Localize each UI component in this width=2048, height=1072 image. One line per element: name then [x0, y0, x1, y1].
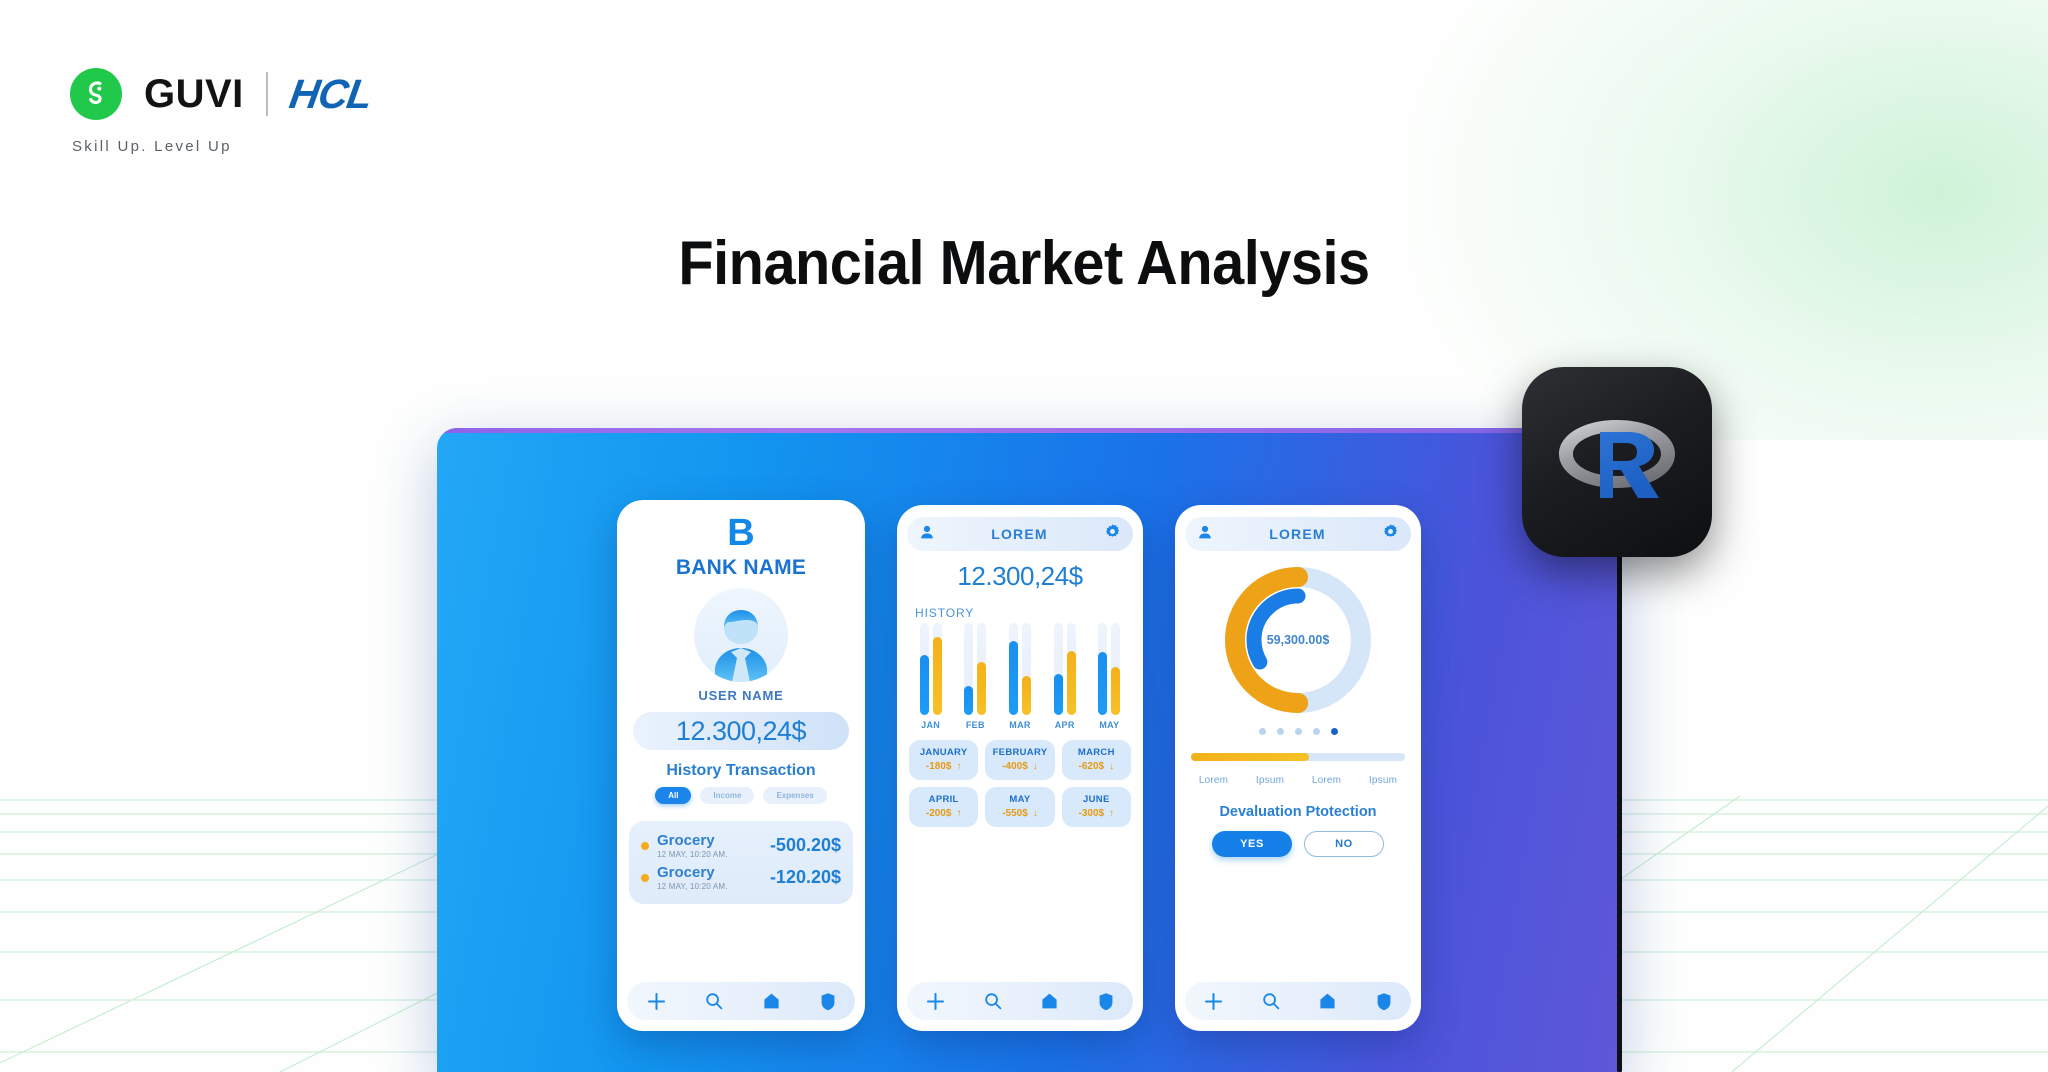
- progress-bar-fill: [1191, 753, 1309, 761]
- gear-icon[interactable]: [1104, 523, 1121, 545]
- transaction-date: 12 MAY, 10:20 AM.: [657, 850, 762, 859]
- legend-row: Lorem Ipsum Lorem Ipsum: [1185, 775, 1411, 786]
- r-language-logo-icon: [1522, 367, 1712, 557]
- plus-icon[interactable]: [926, 992, 945, 1011]
- home-icon[interactable]: [762, 992, 781, 1010]
- bar-group: APR: [1045, 623, 1084, 730]
- month-name: FEBRUARY: [987, 747, 1052, 758]
- no-button[interactable]: NO: [1304, 831, 1384, 857]
- filter-chip-income[interactable]: Income: [700, 787, 754, 804]
- pagination-dot-active[interactable]: [1331, 728, 1338, 735]
- month-card[interactable]: APRIL -200$ ↑: [909, 787, 978, 827]
- search-icon[interactable]: [705, 992, 723, 1010]
- progress-bar: [1191, 753, 1405, 761]
- bar-track: [1098, 623, 1107, 715]
- bar-track: [977, 623, 986, 715]
- bar-track: [1111, 623, 1120, 715]
- app-header: LOREM: [907, 517, 1133, 551]
- person-icon[interactable]: [919, 524, 935, 545]
- transaction-name: Grocery: [657, 865, 762, 881]
- transaction-name: Grocery: [657, 833, 762, 849]
- bar-track: [1022, 623, 1031, 715]
- bar-group: MAR: [1000, 623, 1039, 730]
- phone-mockup-donut-protection: LOREM 59,300.00$: [1175, 505, 1421, 1031]
- month-card[interactable]: FEBRUARY -400$ ↓: [985, 740, 1054, 780]
- bar-category-label: JAN: [921, 720, 940, 730]
- hcl-wordmark: HCL: [287, 74, 375, 115]
- plus-icon[interactable]: [1204, 992, 1223, 1011]
- app-header-title: LOREM: [991, 526, 1048, 542]
- bar-group: FEB: [956, 623, 995, 730]
- shield-icon[interactable]: [1376, 992, 1392, 1011]
- legend-item: Ipsum: [1369, 775, 1397, 786]
- filter-chip-all[interactable]: All: [655, 787, 691, 804]
- bar-yellow: [1111, 667, 1120, 715]
- month-name: APRIL: [911, 794, 976, 805]
- trend-arrow-icon: ↓: [1109, 762, 1114, 772]
- pagination-dot[interactable]: [1277, 728, 1284, 735]
- transaction-date: 12 MAY, 10:20 AM.: [657, 882, 762, 891]
- history-chart-label: HISTORY: [915, 606, 1143, 620]
- section-heading: Devaluation Ptotection: [1175, 804, 1421, 820]
- bank-name-label: BANK NAME: [617, 556, 865, 580]
- pagination-dot[interactable]: [1259, 728, 1266, 735]
- status-dot-icon: [641, 842, 649, 850]
- plus-icon[interactable]: [647, 992, 666, 1011]
- trend-arrow-icon: ↑: [956, 762, 961, 772]
- list-item[interactable]: Grocery 12 MAY, 10:20 AM. -500.20$: [641, 830, 841, 862]
- bank-logo-letter: B: [617, 514, 865, 552]
- month-value: -200$: [926, 808, 952, 819]
- pagination-dot[interactable]: [1295, 728, 1302, 735]
- logo-divider: [266, 72, 268, 116]
- bar-category-label: MAY: [1099, 720, 1119, 730]
- bar-track: [933, 623, 942, 715]
- month-value: -620$: [1079, 761, 1105, 772]
- balance-amount: 12.300,24$: [897, 561, 1143, 592]
- transaction-filter-chips: All Income Expenses: [617, 787, 865, 804]
- search-icon[interactable]: [984, 992, 1002, 1010]
- guvi-wordmark: GUVI: [144, 74, 244, 114]
- confirm-buttons: YES NO: [1175, 831, 1421, 857]
- month-value: -180$: [926, 761, 952, 772]
- history-bar-chart: JAN FEB MAR AP: [911, 626, 1129, 730]
- legend-item: Lorem: [1199, 775, 1228, 786]
- bar-blue: [964, 686, 973, 715]
- trend-arrow-icon: ↓: [1033, 809, 1038, 819]
- bar-yellow: [1067, 651, 1076, 715]
- filter-chip-expenses[interactable]: Expenses: [763, 787, 826, 804]
- avatar: [617, 588, 865, 682]
- app-header-title: LOREM: [1269, 526, 1326, 542]
- bar-track: [1009, 623, 1018, 715]
- month-card[interactable]: JUNE -300$ ↑: [1062, 787, 1131, 827]
- stage-top-edge: [437, 428, 1622, 433]
- phone-mockup-bank-profile: B BANK NAME USER: [617, 500, 865, 1031]
- legend-item: Lorem: [1312, 775, 1341, 786]
- month-card[interactable]: MARCH -620$ ↓: [1062, 740, 1131, 780]
- guvi-tagline: Skill Up. Level Up: [72, 138, 232, 155]
- home-icon[interactable]: [1318, 992, 1337, 1010]
- month-card[interactable]: JANUARY -180$ ↑: [909, 740, 978, 780]
- bottom-navigation-bar: [627, 982, 855, 1020]
- month-name: JANUARY: [911, 747, 976, 758]
- transaction-list: Grocery 12 MAY, 10:20 AM. -500.20$ Groce…: [629, 821, 853, 904]
- bar-track: [964, 623, 973, 715]
- status-dot-icon: [641, 874, 649, 882]
- month-value: -550$: [1002, 808, 1028, 819]
- guvi-g-icon: [70, 68, 122, 120]
- bottom-navigation-bar: [907, 982, 1133, 1020]
- legend-item: Ipsum: [1256, 775, 1284, 786]
- transaction-amount: -120.20$: [770, 867, 841, 888]
- user-avatar-icon: [694, 588, 788, 682]
- gear-icon[interactable]: [1382, 523, 1399, 545]
- month-name: MARCH: [1064, 747, 1129, 758]
- bar-category-label: FEB: [966, 720, 985, 730]
- shield-icon[interactable]: [1098, 992, 1114, 1011]
- person-icon[interactable]: [1197, 524, 1213, 545]
- trend-arrow-icon: ↑: [956, 809, 961, 819]
- search-icon[interactable]: [1262, 992, 1280, 1010]
- pagination-dots: [1175, 728, 1421, 735]
- month-value: -300$: [1079, 808, 1105, 819]
- phone-mockup-history-chart: LOREM 12.300,24$ HISTORY JAN: [897, 505, 1143, 1031]
- bar-track: [1067, 623, 1076, 715]
- bar-group: JAN: [911, 623, 950, 730]
- bar-blue: [1054, 674, 1063, 715]
- list-item[interactable]: Grocery 12 MAY, 10:20 AM. -120.20$: [641, 862, 841, 894]
- donut-center-value: 59,300.00$: [1219, 633, 1377, 647]
- month-summary-grid: JANUARY -180$ ↑ FEBRUARY -400$ ↓ MARCH -…: [909, 740, 1131, 827]
- history-transaction-title: History Transaction: [617, 762, 865, 780]
- bar-category-label: MAR: [1009, 720, 1030, 730]
- bar-yellow: [1022, 676, 1031, 715]
- month-value: -400$: [1002, 761, 1028, 772]
- balance-amount: 12.300,24$: [633, 712, 849, 750]
- trend-arrow-icon: ↓: [1033, 762, 1038, 772]
- brand-logo-row: GUVI HCL: [70, 68, 371, 120]
- slide-root: GUVI HCL Skill Up. Level Up Financial Ma…: [0, 0, 2048, 1072]
- user-name-label: USER NAME: [617, 688, 865, 703]
- bar-blue: [920, 655, 929, 715]
- bottom-navigation-bar: [1185, 982, 1411, 1020]
- trend-arrow-icon: ↑: [1109, 809, 1114, 819]
- month-name: JUNE: [1064, 794, 1129, 805]
- bar-category-label: APR: [1055, 720, 1075, 730]
- pagination-dot[interactable]: [1313, 728, 1320, 735]
- bar-group: MAY: [1090, 623, 1129, 730]
- donut-chart: 59,300.00$: [1175, 561, 1421, 719]
- bar-yellow: [977, 662, 986, 715]
- shield-icon[interactable]: [820, 992, 836, 1011]
- transaction-amount: -500.20$: [770, 835, 841, 856]
- bar-blue: [1009, 641, 1018, 715]
- bar-yellow: [933, 637, 942, 715]
- yes-button[interactable]: YES: [1212, 831, 1292, 857]
- home-icon[interactable]: [1040, 992, 1059, 1010]
- bar-track: [920, 623, 929, 715]
- app-header: LOREM: [1185, 517, 1411, 551]
- month-name: MAY: [987, 794, 1052, 805]
- month-card[interactable]: MAY -550$ ↓: [985, 787, 1054, 827]
- page-title: Financial Market Analysis: [72, 228, 1977, 299]
- bar-blue: [1098, 652, 1107, 715]
- bar-track: [1054, 623, 1063, 715]
- background-green-glow: [1408, 0, 2048, 440]
